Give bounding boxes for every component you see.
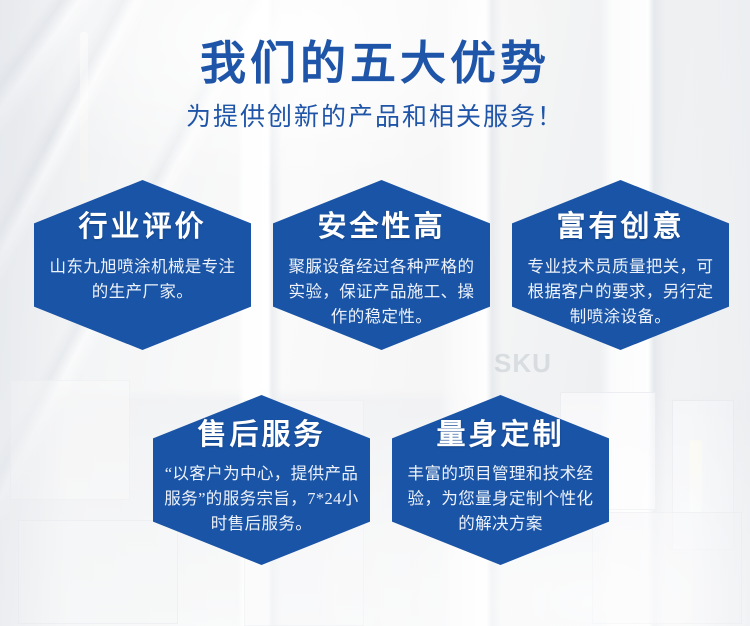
page-title: 我们的五大优势 bbox=[0, 41, 750, 87]
advantage-body: “以客户为中心，提供产品服务”的服务宗旨，7*24小时售后服务。 bbox=[164, 462, 360, 536]
advantage-card-industry-rating[interactable]: 行业评价 山东九旭喷涂机械是专注的生产厂家。 bbox=[34, 180, 251, 350]
advantage-card-after-sales[interactable]: 售后服务 “以客户为中心，提供产品服务”的服务宗旨，7*24小时售后服务。 bbox=[153, 395, 370, 565]
advantage-title: 量身定制 bbox=[436, 421, 564, 450]
advantage-body: 山东九旭喷涂机械是专注的生产厂家。 bbox=[45, 255, 241, 305]
advantage-title: 安全性高 bbox=[317, 213, 445, 242]
advantage-card-customization[interactable]: 量身定制 丰富的项目管理和技术经验，为您量身定制个性化的解决方案 bbox=[392, 395, 609, 565]
advantage-body: 聚脲设备经过各种严格的实验，保证产品施工、操作的稳定性。 bbox=[284, 255, 480, 329]
header-block: 我们的五大优势 为提供创新的产品和相关服务！ bbox=[0, 0, 750, 130]
promo-banner: SKU SKU 我们的五大优势 为提供创新的产品和相关服务！ 行业评价 山东九旭… bbox=[0, 0, 750, 626]
advantage-card-high-safety[interactable]: 安全性高 聚脲设备经过各种严格的实验，保证产品施工、操作的稳定性。 bbox=[273, 180, 490, 350]
advantage-card-creative[interactable]: 富有创意 专业技术员质量把关，可根据客户的要求，另行定制喷涂设备。 bbox=[512, 180, 729, 350]
advantage-title: 行业评价 bbox=[78, 213, 206, 242]
advantage-body: 专业技术员质量把关，可根据客户的要求，另行定制喷涂设备。 bbox=[523, 255, 719, 329]
advantage-title: 售后服务 bbox=[197, 421, 325, 450]
page-subtitle: 为提供创新的产品和相关服务！ bbox=[0, 105, 750, 130]
advantage-body: 丰富的项目管理和技术经验，为您量身定制个性化的解决方案 bbox=[403, 462, 599, 536]
advantage-title: 富有创意 bbox=[556, 213, 684, 242]
